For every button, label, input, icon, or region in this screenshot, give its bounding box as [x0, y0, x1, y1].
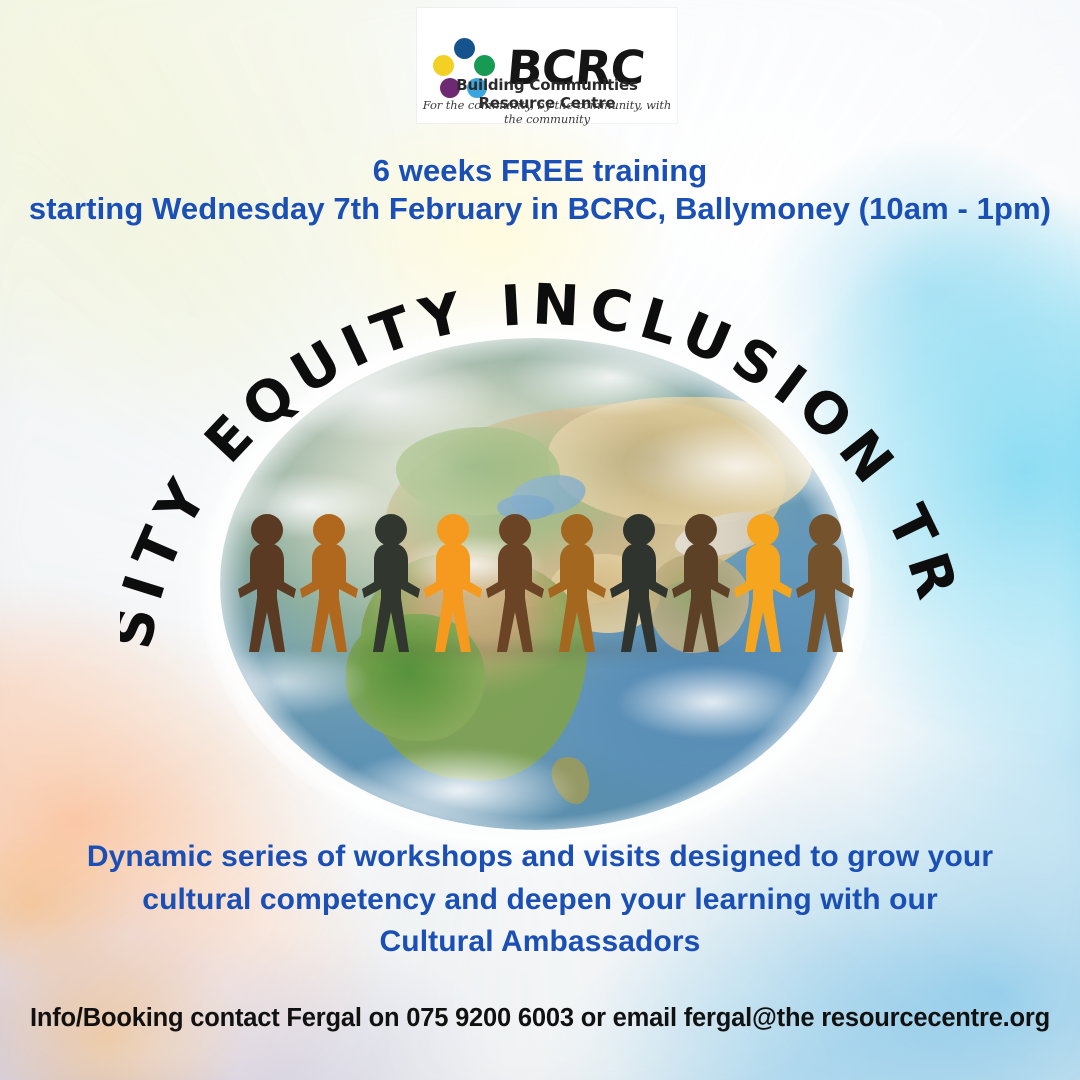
body-line-2: cultural competency and deepen your lear…: [40, 879, 1040, 922]
dot-yellow-icon: [433, 55, 454, 76]
person-2-icon: [298, 512, 360, 662]
person-10-icon: [794, 512, 856, 662]
headline-line-2: starting Wednesday 7th February in BCRC,…: [0, 190, 1080, 228]
people-holding-hands: [236, 500, 836, 662]
logo-tagline: For the community, by the community, wit…: [417, 98, 677, 126]
body-line-1: Dynamic series of workshops and visits d…: [40, 836, 1040, 879]
bcrc-logo: BCRC Building Communities Resource Centr…: [417, 8, 677, 123]
headline: 6 weeks FREE training starting Wednesday…: [0, 152, 1080, 228]
person-9-icon: [732, 512, 794, 662]
person-7-icon: [608, 512, 670, 662]
person-8-icon: [670, 512, 732, 662]
person-4-icon: [422, 512, 484, 662]
person-3-icon: [360, 512, 422, 662]
dot-blue-icon: [454, 38, 475, 59]
contact-footer: Info/Booking contact Fergal on 075 9200 …: [20, 1004, 1060, 1033]
poster-canvas: BCRC Building Communities Resource Centr…: [0, 0, 1080, 1080]
person-1-icon: [236, 512, 298, 662]
headline-line-1: 6 weeks FREE training: [0, 152, 1080, 190]
person-5-icon: [484, 512, 546, 662]
body-copy: Dynamic series of workshops and visits d…: [40, 836, 1040, 964]
dot-green-icon: [474, 55, 495, 76]
body-line-3: Cultural Ambassadors: [40, 921, 1040, 964]
person-6-icon: [546, 512, 608, 662]
